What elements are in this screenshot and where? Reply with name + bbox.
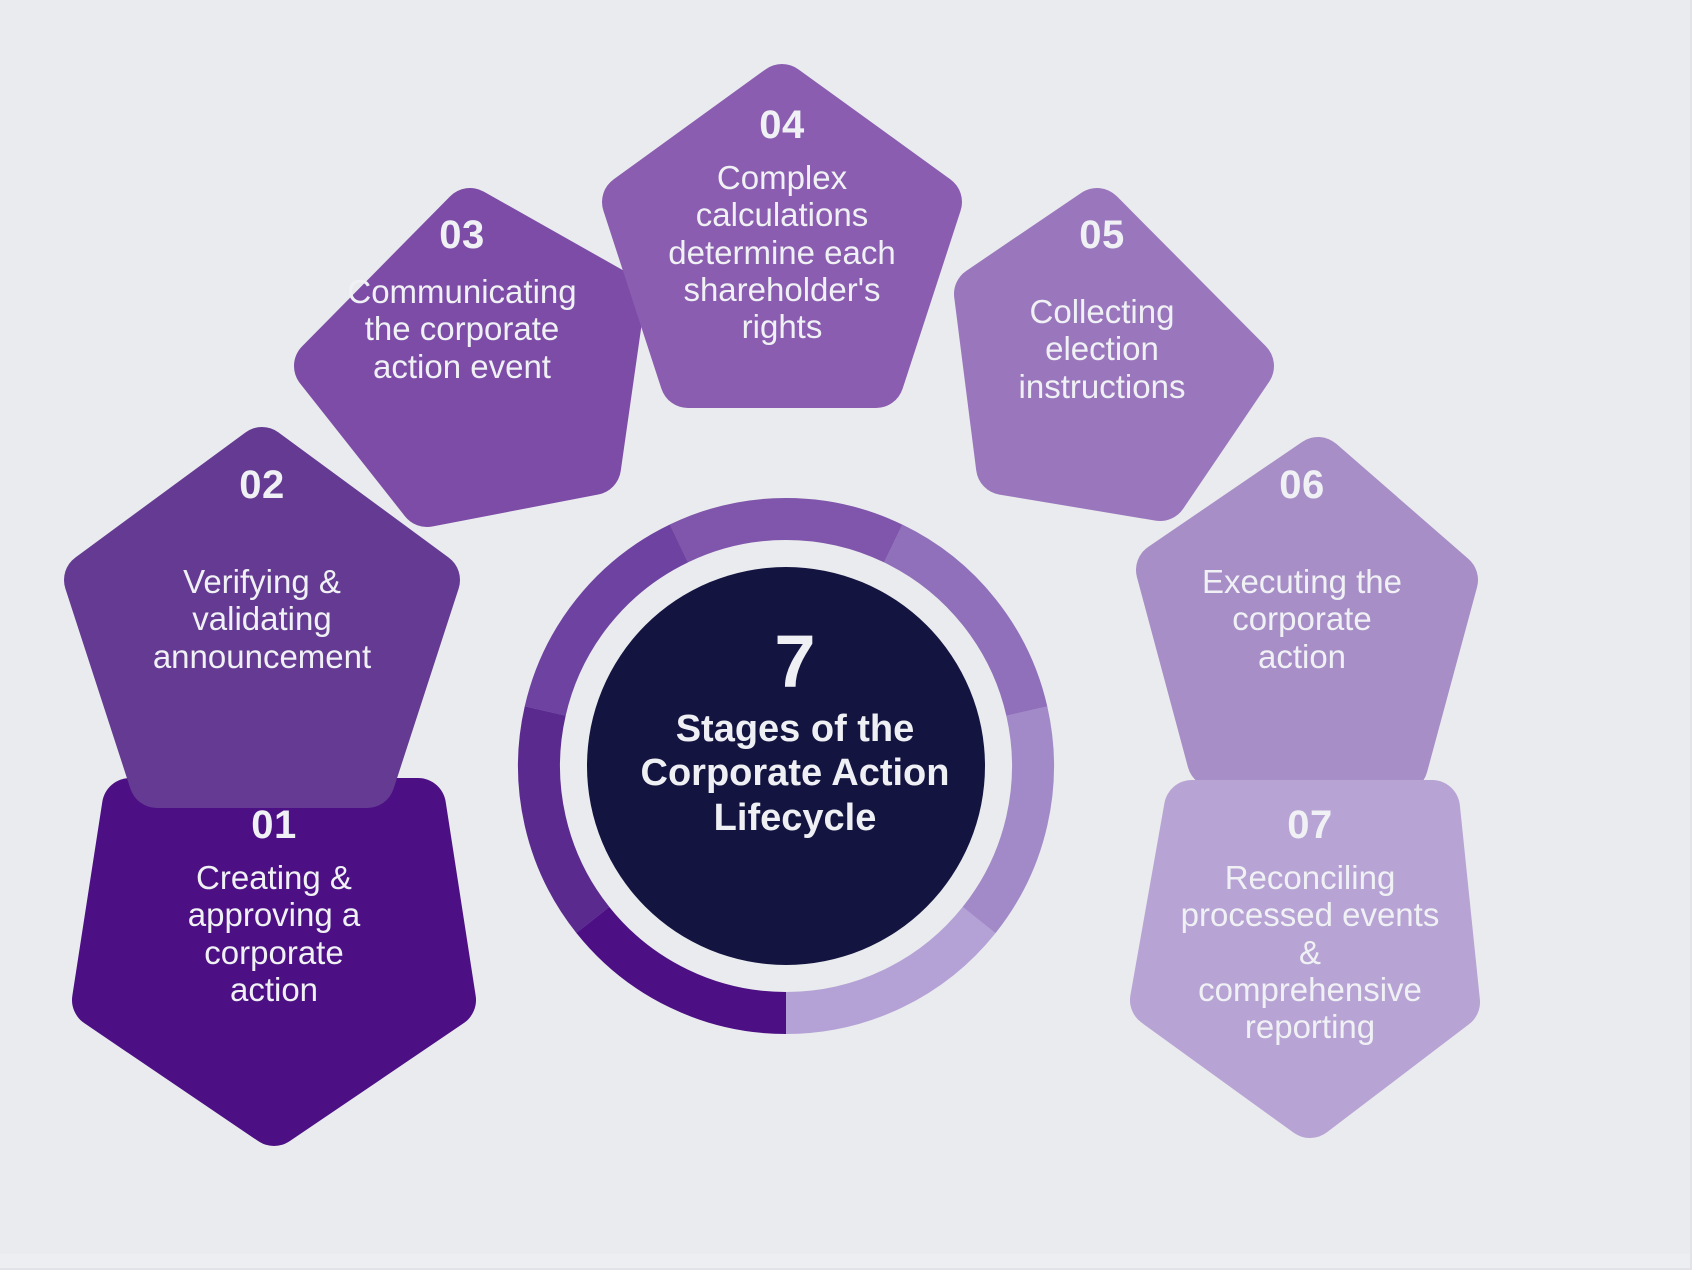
pentagon-shape-02[interactable]: [92, 455, 432, 780]
infographic-canvas: 01 Creating & approving a corporate acti…: [0, 0, 1692, 1270]
pentagon-shape-04[interactable]: [630, 92, 934, 380]
pentagon-shape-06[interactable]: [1164, 465, 1450, 765]
lifecycle-diagram: [0, 0, 1692, 1270]
pentagon-shape-03[interactable]: [322, 216, 617, 499]
bottom-band: [0, 1254, 1690, 1268]
pentagon-shape-05[interactable]: [982, 216, 1246, 493]
center-circle[interactable]: [587, 567, 985, 965]
pentagon-shape-01[interactable]: [100, 806, 448, 1118]
pentagon-shape-07[interactable]: [1158, 808, 1452, 1110]
